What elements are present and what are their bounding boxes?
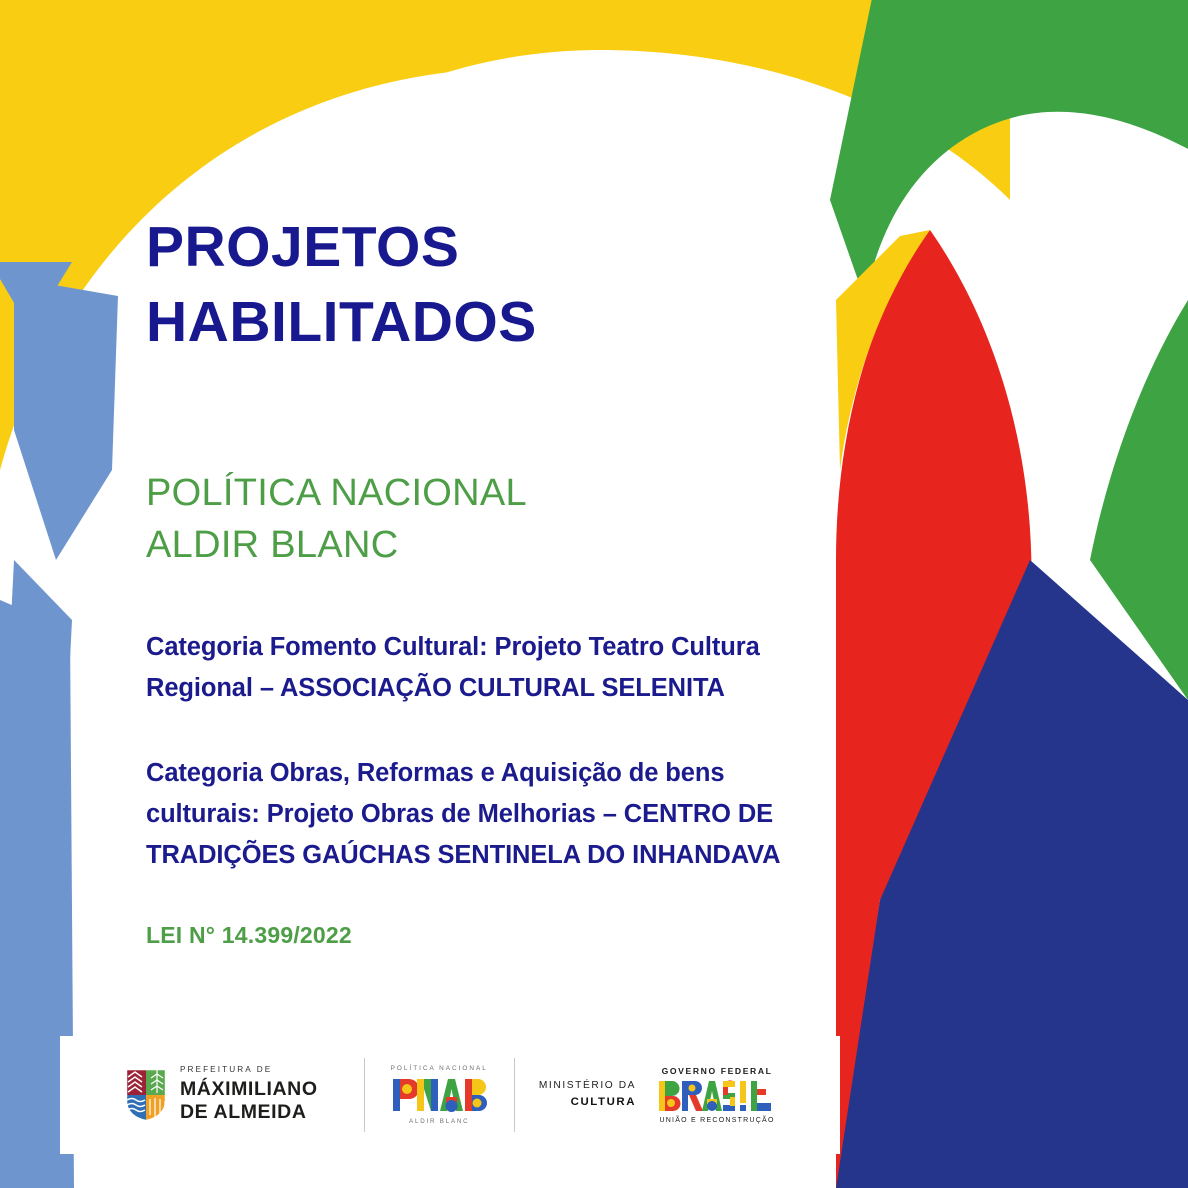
- program-name-heading: POLÍTICA NACIONAL ALDIR BLANC: [146, 468, 806, 571]
- footer-logo-bar: PREFEITURA DE MÁXIMILIANO DE ALMEIDA POL…: [60, 1036, 840, 1154]
- governo-federal-sub: UNIÃO E RECONSTRUÇÃO: [659, 1117, 774, 1124]
- project-entry-obras-reformas: Categoria Obras, Reformas e Aquisição de…: [146, 753, 806, 876]
- poster-canvas: PROJETOS HABILITADOS POLÍTICA NACIONAL A…: [0, 0, 1188, 1188]
- pnab-kicker: POLÍTICA NACIONAL: [391, 1065, 488, 1072]
- prefeitura-kicker: PREFEITURA DE: [180, 1066, 318, 1074]
- project-entry-fomento-cultural: Categoria Fomento Cultural: Projeto Teat…: [146, 627, 806, 709]
- poster-content: PROJETOS HABILITADOS POLÍTICA NACIONAL A…: [146, 210, 806, 949]
- governo-federal-kicker: GOVERNO FEDERAL: [662, 1066, 773, 1076]
- ministry-line1: MINISTÉRIO DA: [539, 1079, 636, 1094]
- page-title: PROJETOS HABILITADOS: [146, 210, 806, 360]
- prefeitura-name-line2: DE ALMEIDA: [180, 1101, 318, 1124]
- ministry-of-culture-logo: MINISTÉRIO DA CULTURA: [515, 1079, 658, 1110]
- prefeitura-name-line1: MÁXIMILIANO: [180, 1078, 318, 1101]
- ministry-line2: CULTURA: [571, 1094, 636, 1111]
- pnab-sub: ALDIR BLANC: [409, 1118, 469, 1125]
- governo-federal-logo: GOVERNO FEDERAL: [658, 1066, 776, 1124]
- pnab-wordmark-icon: [391, 1075, 487, 1115]
- law-reference: LEI N° 14.399/2022: [146, 922, 806, 949]
- brasil-wordmark-icon: [658, 1079, 776, 1113]
- prefeitura-logo: PREFEITURA DE MÁXIMILIANO DE ALMEIDA: [124, 1066, 318, 1124]
- pnab-logo: POLÍTICA NACIONAL ALDIR B: [365, 1065, 514, 1125]
- municipal-shield-icon: [124, 1067, 168, 1123]
- prefeitura-wordmark: PREFEITURA DE MÁXIMILIANO DE ALMEIDA: [180, 1066, 318, 1124]
